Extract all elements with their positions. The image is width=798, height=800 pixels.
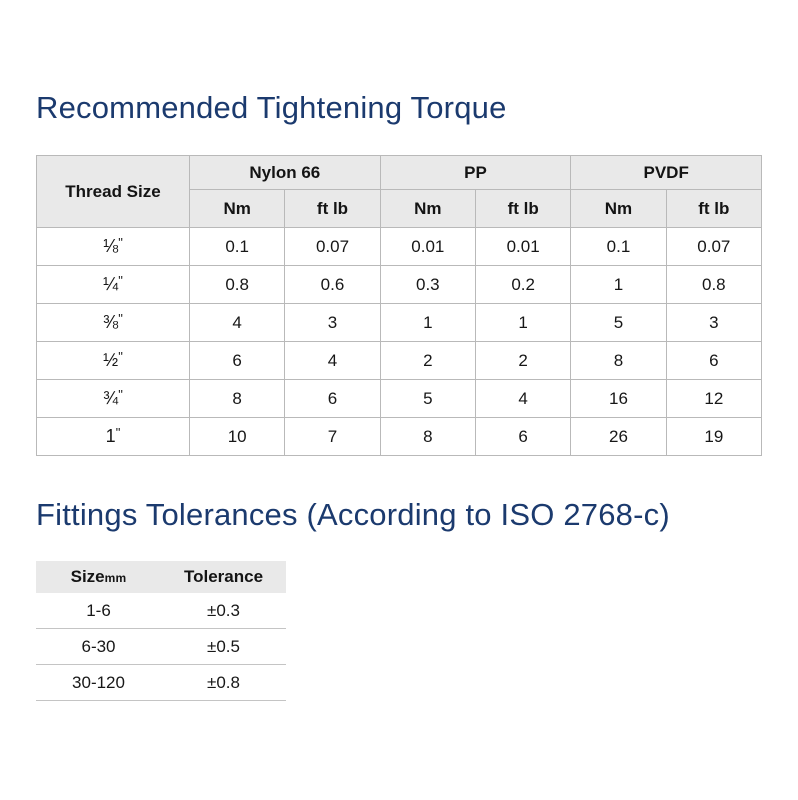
cell-pp-ftlb: 0.2 bbox=[475, 266, 570, 304]
cell-nylon66-ftlb: 0.07 bbox=[285, 228, 380, 266]
torque-table: Thread Size Nylon 66 PP PVDF Nm ft lb Nm… bbox=[36, 155, 762, 456]
thread-size-fraction: ¼ bbox=[103, 274, 118, 294]
cell-thread-size: 1" bbox=[37, 418, 190, 456]
tolerance-table-head: Sizemm Tolerance bbox=[36, 561, 286, 593]
column-header-size-label: Size bbox=[71, 567, 105, 586]
cell-thread-size: ½" bbox=[37, 342, 190, 380]
table-row: ⅜"431153 bbox=[37, 304, 762, 342]
cell-nylon66-ftlb: 7 bbox=[285, 418, 380, 456]
thread-size-fraction: 1 bbox=[106, 426, 116, 446]
cell-nylon66-ftlb: 4 bbox=[285, 342, 380, 380]
cell-pp-ftlb: 1 bbox=[475, 304, 570, 342]
cell-pp-ftlb: 6 bbox=[475, 418, 570, 456]
cell-nylon66-nm: 8 bbox=[190, 380, 285, 418]
cell-size-range: 1-6 bbox=[36, 593, 161, 629]
thread-size-fraction: ½ bbox=[103, 350, 118, 370]
column-header-pp-nm: Nm bbox=[380, 190, 475, 228]
cell-tolerance-value: ±0.3 bbox=[161, 593, 286, 629]
column-group-header-pp: PP bbox=[380, 156, 571, 190]
cell-nylon66-ftlb: 3 bbox=[285, 304, 380, 342]
cell-pvdf-nm: 1 bbox=[571, 266, 666, 304]
cell-nylon66-nm: 0.1 bbox=[190, 228, 285, 266]
cell-pvdf-nm: 16 bbox=[571, 380, 666, 418]
table-header-row-groups: Thread Size Nylon 66 PP PVDF bbox=[37, 156, 762, 190]
page-title-tolerances: Fittings Tolerances (According to ISO 27… bbox=[36, 497, 670, 533]
cell-thread-size: ¾" bbox=[37, 380, 190, 418]
column-header-nylon66-nm: Nm bbox=[190, 190, 285, 228]
thread-size-inch-mark: " bbox=[118, 273, 123, 288]
cell-thread-size: ⅜" bbox=[37, 304, 190, 342]
thread-size-fraction: ⅜ bbox=[103, 312, 118, 332]
cell-nylon66-nm: 10 bbox=[190, 418, 285, 456]
cell-pvdf-ftlb: 12 bbox=[666, 380, 761, 418]
tolerance-table-body: 1-6±0.36-30±0.530-120±0.8 bbox=[36, 593, 286, 701]
table-row: ¼"0.80.60.30.210.8 bbox=[37, 266, 762, 304]
cell-nylon66-ftlb: 6 bbox=[285, 380, 380, 418]
table-header-row: Sizemm Tolerance bbox=[36, 561, 286, 593]
thread-size-inch-mark: " bbox=[118, 387, 123, 402]
cell-pvdf-ftlb: 6 bbox=[666, 342, 761, 380]
column-group-header-nylon66: Nylon 66 bbox=[190, 156, 381, 190]
cell-pp-ftlb: 2 bbox=[475, 342, 570, 380]
page-title-torque: Recommended Tightening Torque bbox=[36, 90, 507, 126]
cell-pp-nm: 5 bbox=[380, 380, 475, 418]
column-header-pvdf-nm: Nm bbox=[571, 190, 666, 228]
cell-pvdf-nm: 0.1 bbox=[571, 228, 666, 266]
thread-size-inch-mark: " bbox=[118, 235, 123, 250]
cell-pp-ftlb: 0.01 bbox=[475, 228, 570, 266]
table-row: ¾"86541612 bbox=[37, 380, 762, 418]
cell-size-range: 6-30 bbox=[36, 629, 161, 665]
column-header-nylon66-ftlb: ft lb bbox=[285, 190, 380, 228]
column-header-size-unit: mm bbox=[105, 571, 127, 585]
cell-size-range: 30-120 bbox=[36, 665, 161, 701]
cell-tolerance-value: ±0.8 bbox=[161, 665, 286, 701]
column-header-size: Sizemm bbox=[36, 561, 161, 593]
table-row: 1"107862619 bbox=[37, 418, 762, 456]
table-row: ½"642286 bbox=[37, 342, 762, 380]
cell-pvdf-nm: 26 bbox=[571, 418, 666, 456]
tolerance-table-container: Sizemm Tolerance 1-6±0.36-30±0.530-120±0… bbox=[36, 561, 286, 701]
cell-pp-nm: 2 bbox=[380, 342, 475, 380]
cell-pvdf-ftlb: 0.8 bbox=[666, 266, 761, 304]
tolerance-table: Sizemm Tolerance 1-6±0.36-30±0.530-120±0… bbox=[36, 561, 286, 701]
cell-pp-ftlb: 4 bbox=[475, 380, 570, 418]
datasheet-page: Recommended Tightening Torque Thread Siz… bbox=[0, 0, 798, 800]
cell-tolerance-value: ±0.5 bbox=[161, 629, 286, 665]
thread-size-inch-mark: " bbox=[118, 349, 123, 364]
thread-size-fraction: ¾ bbox=[103, 388, 118, 408]
cell-thread-size: ¼" bbox=[37, 266, 190, 304]
thread-size-fraction: ⅛ bbox=[103, 236, 118, 256]
column-header-pvdf-ftlb: ft lb bbox=[666, 190, 761, 228]
cell-thread-size: ⅛" bbox=[37, 228, 190, 266]
cell-nylon66-nm: 4 bbox=[190, 304, 285, 342]
thread-size-inch-mark: " bbox=[116, 425, 121, 440]
list-item: 30-120±0.8 bbox=[36, 665, 286, 701]
cell-nylon66-ftlb: 0.6 bbox=[285, 266, 380, 304]
list-item: 6-30±0.5 bbox=[36, 629, 286, 665]
list-item: 1-6±0.3 bbox=[36, 593, 286, 629]
torque-table-container: Thread Size Nylon 66 PP PVDF Nm ft lb Nm… bbox=[36, 155, 762, 456]
cell-nylon66-nm: 6 bbox=[190, 342, 285, 380]
column-header-pp-ftlb: ft lb bbox=[475, 190, 570, 228]
cell-pvdf-nm: 5 bbox=[571, 304, 666, 342]
thread-size-inch-mark: " bbox=[118, 311, 123, 326]
column-group-header-pvdf: PVDF bbox=[571, 156, 762, 190]
cell-pvdf-ftlb: 3 bbox=[666, 304, 761, 342]
cell-pvdf-ftlb: 0.07 bbox=[666, 228, 761, 266]
table-row: ⅛"0.10.070.010.010.10.07 bbox=[37, 228, 762, 266]
cell-pp-nm: 0.01 bbox=[380, 228, 475, 266]
column-header-thread-size: Thread Size bbox=[37, 156, 190, 228]
column-header-tolerance: Tolerance bbox=[161, 561, 286, 593]
cell-pvdf-nm: 8 bbox=[571, 342, 666, 380]
cell-pp-nm: 1 bbox=[380, 304, 475, 342]
cell-pp-nm: 0.3 bbox=[380, 266, 475, 304]
cell-pp-nm: 8 bbox=[380, 418, 475, 456]
cell-nylon66-nm: 0.8 bbox=[190, 266, 285, 304]
cell-pvdf-ftlb: 19 bbox=[666, 418, 761, 456]
torque-table-body: ⅛"0.10.070.010.010.10.07¼"0.80.60.30.210… bbox=[37, 228, 762, 456]
torque-table-head: Thread Size Nylon 66 PP PVDF Nm ft lb Nm… bbox=[37, 156, 762, 228]
